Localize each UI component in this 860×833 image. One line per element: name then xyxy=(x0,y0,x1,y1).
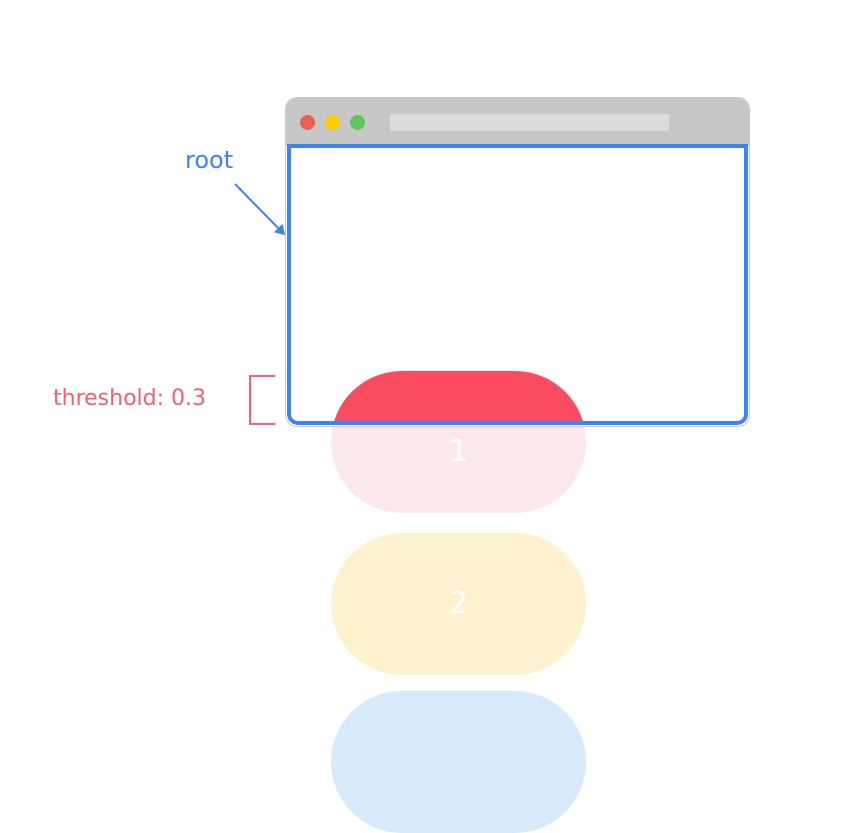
target-box-2: 2 xyxy=(331,533,586,675)
browser-window xyxy=(285,97,750,427)
root-label: root xyxy=(185,148,233,172)
target-box-1-label: 1 xyxy=(449,437,468,467)
address-bar-input[interactable] xyxy=(390,114,669,131)
diagram-canvas: 1 2 root threshold: 0.3 xyxy=(0,0,860,800)
close-icon[interactable] xyxy=(300,115,315,130)
minimize-icon[interactable] xyxy=(325,115,340,130)
maximize-icon[interactable] xyxy=(350,115,365,130)
browser-titlebar xyxy=(286,98,749,146)
threshold-bracket xyxy=(249,375,275,425)
browser-viewport xyxy=(286,146,749,426)
threshold-label: threshold: 0.3 xyxy=(53,388,206,410)
target-box-2-label: 2 xyxy=(449,589,468,619)
target-box-3 xyxy=(331,691,586,833)
